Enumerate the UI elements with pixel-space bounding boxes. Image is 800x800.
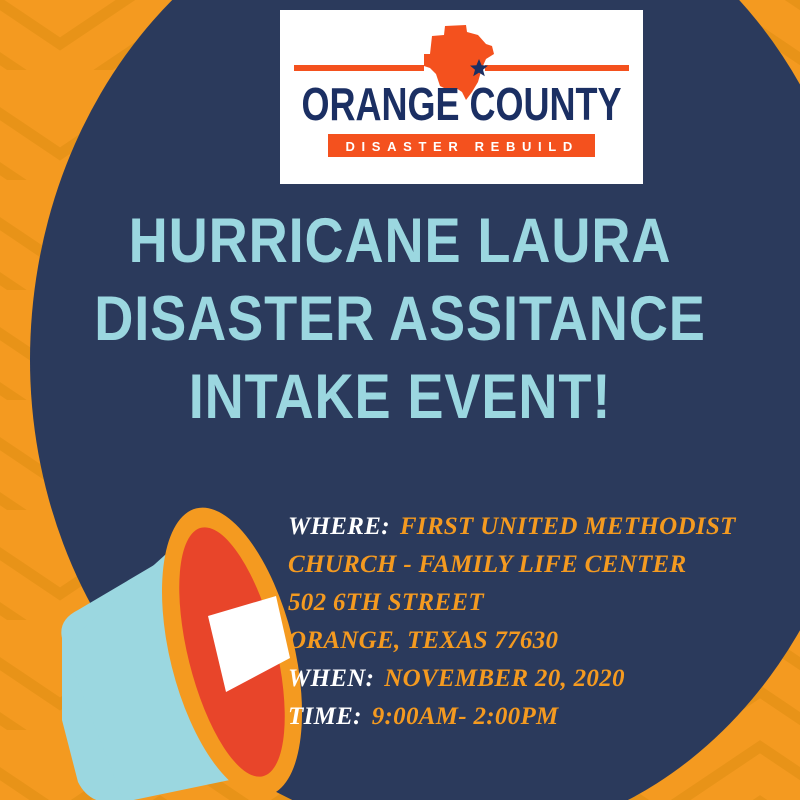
where-value-line-4: ORANGE, TEXAS 77630 — [288, 627, 558, 654]
where-value-line-3: 502 6TH STREET — [288, 589, 484, 616]
where-value-line-1: FIRST UNITED METHODIST — [400, 513, 736, 540]
detail-row-street: 502 6TH STREET — [288, 584, 788, 622]
where-label: WHERE: — [288, 513, 390, 540]
detail-row-where: WHERE:FIRST UNITED METHODIST — [288, 508, 788, 546]
event-headline: HURRICANE LAURA DISASTER ASSITANCE INTAK… — [56, 202, 744, 436]
event-details: WHERE:FIRST UNITED METHODIST CHURCH - FA… — [288, 508, 788, 736]
headline-line-1: HURRICANE LAURA — [56, 202, 744, 280]
when-value: NOVEMBER 20, 2020 — [384, 665, 625, 692]
logo-artwork: ORANGE COUNTY DISASTER REBUILD — [280, 10, 643, 184]
organization-logo: ORANGE COUNTY DISASTER REBUILD — [280, 10, 643, 184]
where-value-line-2: CHURCH - FAMILY LIFE CENTER — [288, 551, 686, 578]
detail-row-venue: CHURCH - FAMILY LIFE CENTER — [288, 546, 788, 584]
time-label: TIME: — [288, 703, 362, 730]
detail-row-city: ORANGE, TEXAS 77630 — [288, 622, 788, 660]
logo-tagline-text: DISASTER REBUILD — [346, 139, 578, 154]
detail-row-when: WHEN:NOVEMBER 20, 2020 — [288, 660, 788, 698]
headline-line-2: DISASTER ASSITANCE — [56, 280, 744, 358]
logo-name-text: ORANGE COUNTY — [302, 78, 622, 130]
poster-canvas: ORANGE COUNTY DISASTER REBUILD HURRICANE… — [0, 0, 800, 800]
when-label: WHEN: — [288, 665, 374, 692]
detail-row-time: TIME:9:00AM- 2:00PM — [288, 698, 788, 736]
time-value: 9:00AM- 2:00PM — [372, 703, 559, 730]
headline-line-3: INTAKE EVENT! — [56, 358, 744, 436]
